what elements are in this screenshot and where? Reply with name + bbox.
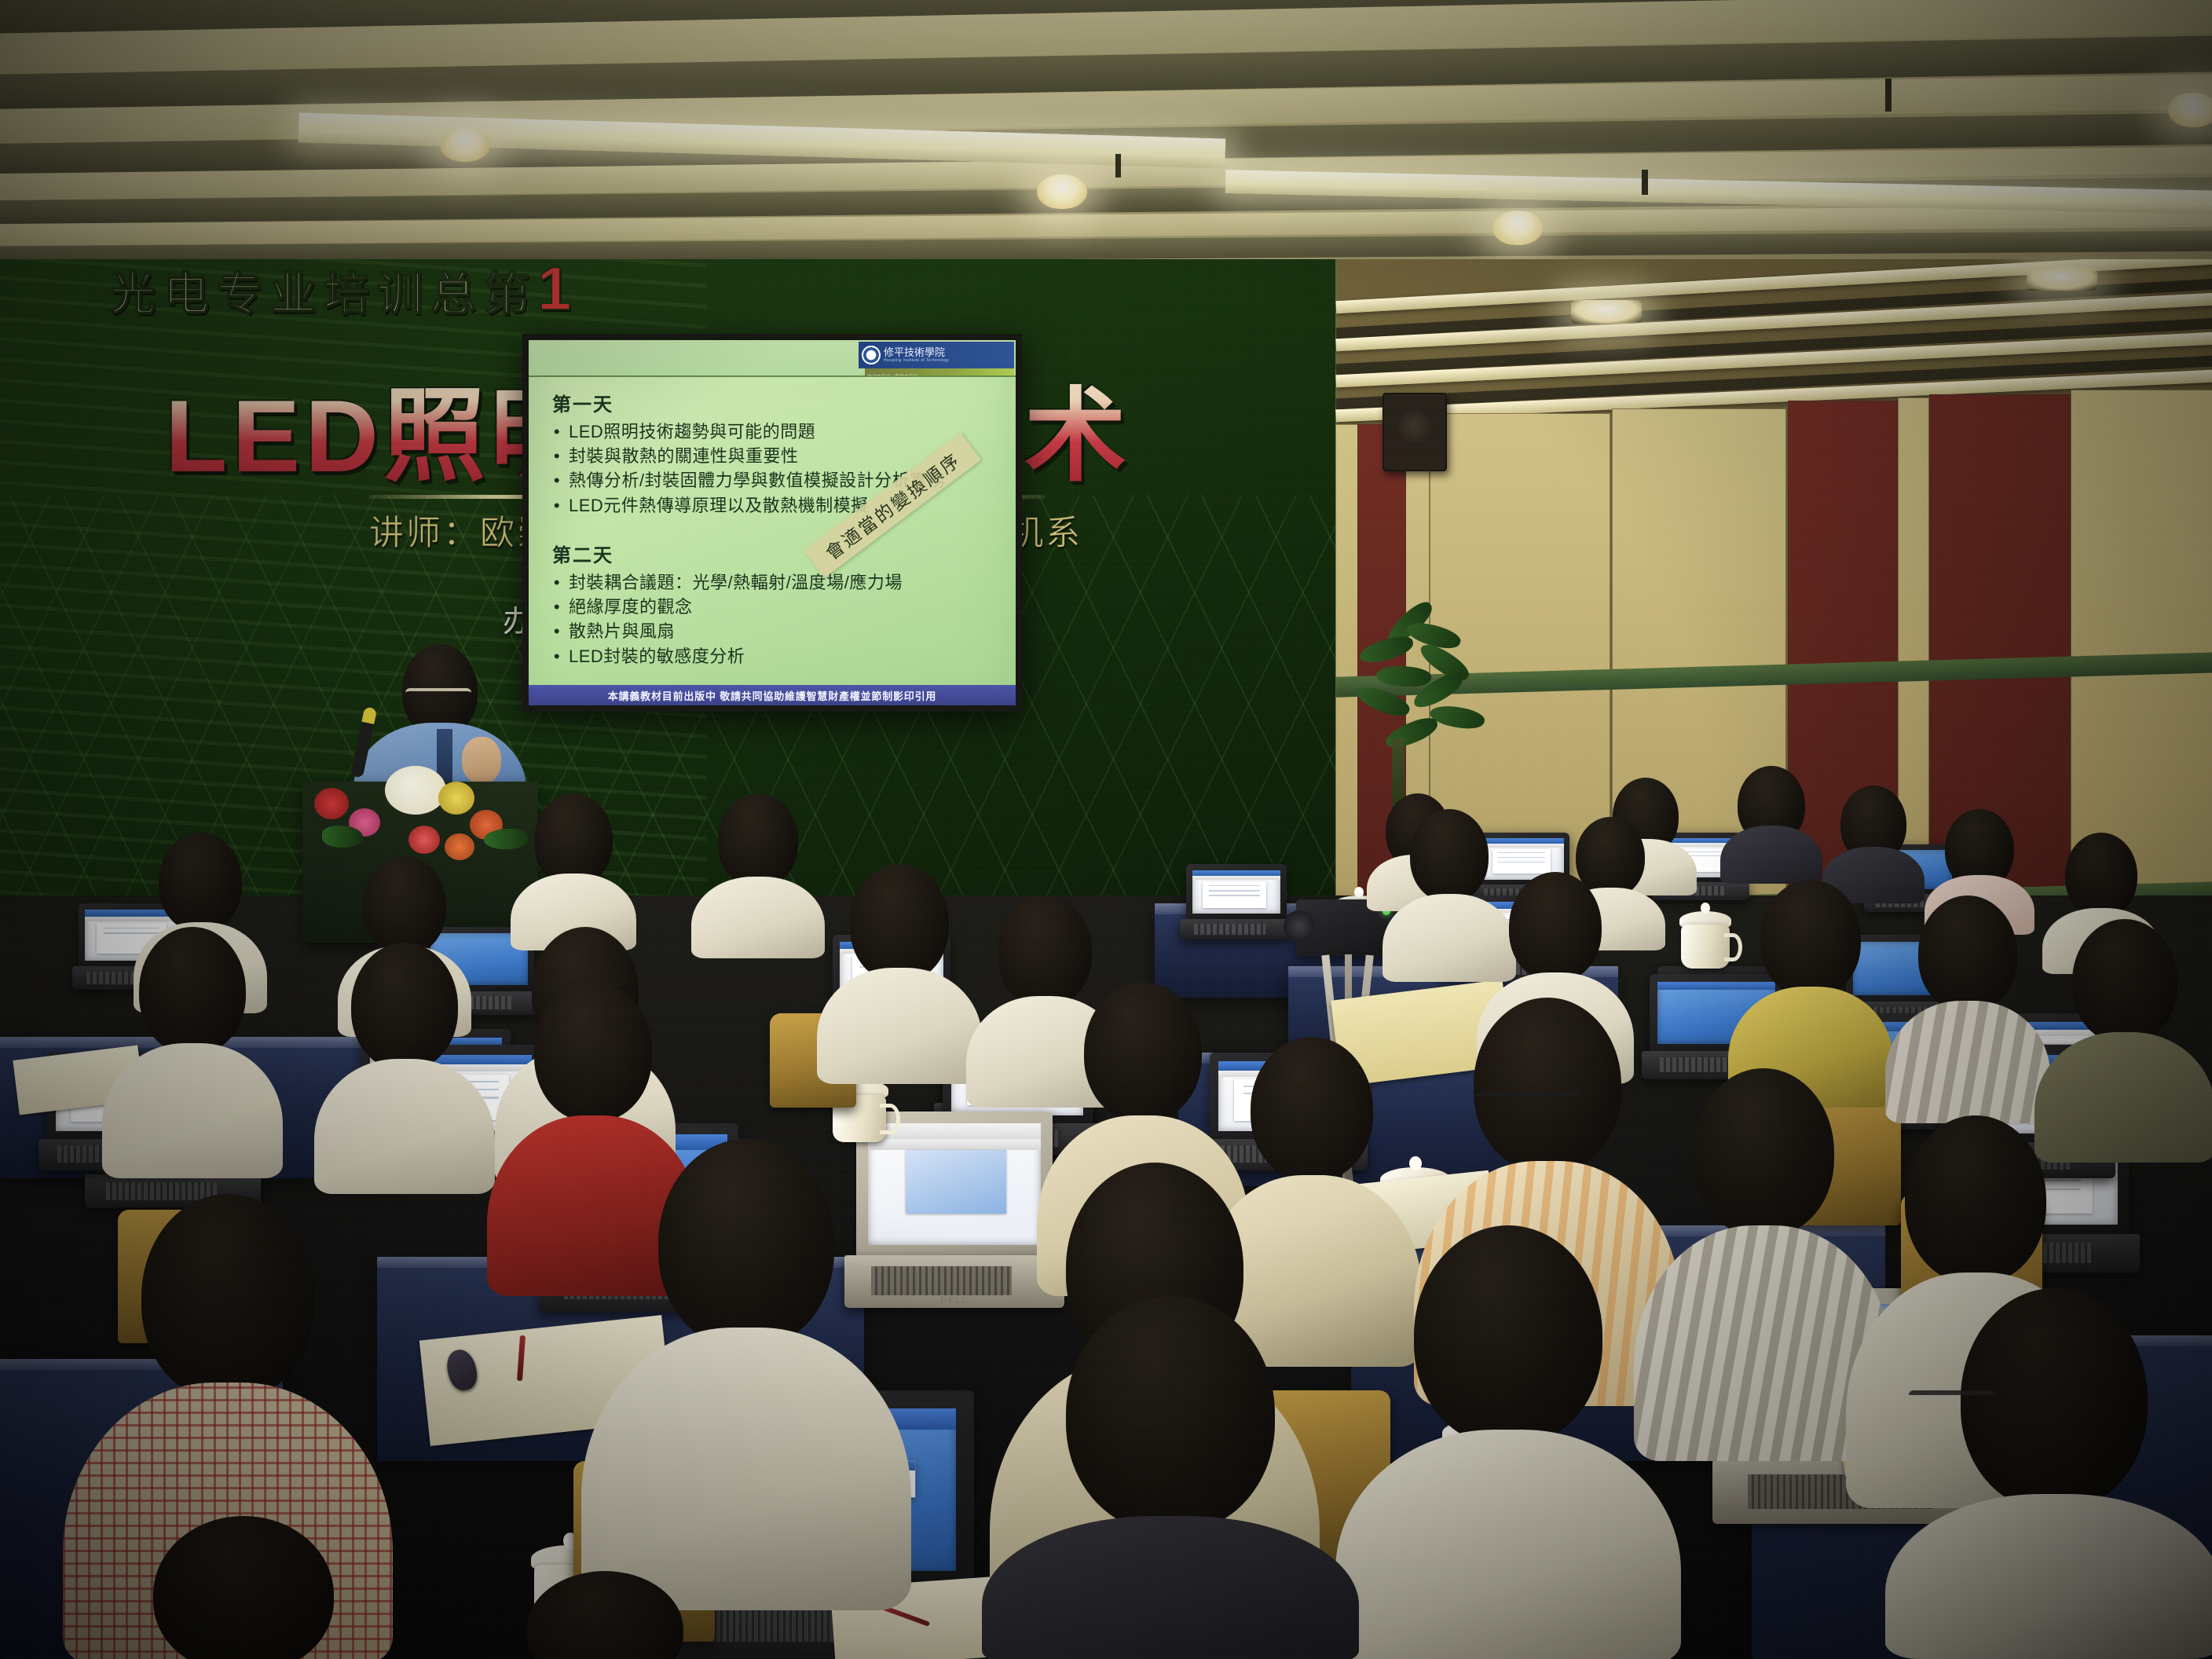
bullet-dot-icon: • [552,570,562,595]
bullet-text: LED封裝的敏感度分析 [569,644,745,668]
slide-footer-notice: 本講義教材目前出版中 敬請共同協助維護智慧財產權並節制影印引用 [529,685,1016,705]
bullet-dot-icon: • [552,444,562,468]
wall-lamp [1571,300,1642,324]
bullet-text: 散熱片與風扇 [569,619,675,643]
ceiling-fitting [1115,154,1121,178]
ceiling-spotlight [440,127,490,162]
logo-subtitle: Hsiuping Institute of Technology [884,358,949,363]
wall-speaker [1382,393,1447,471]
slide-header-rule [529,375,1016,377]
slide-bullet: • 散熱片與風扇 [552,619,1005,643]
attendee [94,1516,393,1659]
slide-logo-bar: 機械工程系 / 電機工程系 [865,368,1014,375]
logo-name: 修平技術學院 [884,347,949,358]
ceiling-fitting [1885,79,1892,112]
attendee-glasses-icon [1477,1092,1579,1109]
attendee-glasses-icon [1909,1390,1995,1408]
attendee [487,1571,723,1659]
slide-day2-title: 第二天 [552,540,1005,567]
attendee [1720,766,1822,884]
slide-content: 第一天 • LED照明技術趨勢與可能的問題 • 封裝與散熱的關連性與重要性 • … [552,389,1005,668]
logo-mark-icon [862,346,881,364]
slide-bullet: • 封裝耦合議題：光學/熱輻射/溫度場/應力場 [552,570,1005,595]
banner-session-line: 光电专业培训总第1 [110,259,579,324]
attendee [982,1296,1359,1659]
presenter-glasses-icon [405,688,471,702]
teacup [1681,907,1730,969]
slide-day1-title: 第一天 [552,389,1005,416]
bullet-dot-icon: • [552,493,562,518]
bullet-text: 封裝與散熱的關連性與重要性 [569,444,799,468]
attendee-laptop [1186,864,1287,939]
attendee [1885,895,2050,1123]
bullet-text: LED元件熱傳導原理以及散熱機制模擬 [569,493,869,518]
footer-notice-text: 本講義教材目前出版中 敬請共同協助維護智慧財產權並節制影印引用 [608,688,936,703]
attendee [1335,1225,1681,1659]
bullet-dot-icon: • [552,468,562,493]
ceiling-spotlight [1037,174,1087,209]
bullet-dot-icon: • [552,644,562,668]
slide-institution-logo: 修平技術學院 Hsiuping Institute of Technology [859,342,1014,368]
bullet-dot-icon: • [552,619,562,643]
bullet-dot-icon: • [552,595,562,619]
projection-screen: 修平技術學院 Hsiuping Institute of Technology … [522,334,1022,712]
slide-bullet: • 絕緣厚度的觀念 [552,595,1005,619]
attendee [102,927,283,1178]
slide-bullet: • LED封裝的敏感度分析 [552,644,1005,668]
attendee [314,943,495,1194]
attendee [1885,1288,2212,1659]
ceiling-fitting [1642,170,1648,195]
bullet-dot-icon: • [552,419,562,444]
bullet-text: LED照明技術趨勢與可能的問題 [569,419,815,444]
slide-bullet: • LED照明技術趨勢與可能的問題 [552,419,1005,444]
flower-arrangement [291,750,542,868]
laptop-brand-label: DELL [940,1295,969,1305]
slide-bullet: • LED元件熱傳導原理以及散熱機制模擬 [552,493,1005,518]
ceiling-spotlight [1492,211,1543,245]
attendee [817,864,982,1084]
attendee [581,1139,911,1610]
bullet-text: 封裝耦合議題：光學/熱輻射/溫度場/應力場 [569,570,903,595]
camera-lens-icon [1284,910,1315,942]
wall-lamp [2027,267,2097,291]
ceiling-spotlight [2168,93,2212,127]
projected-slide: 修平技術學院 Hsiuping Institute of Technology … [529,340,1016,705]
attendee [691,793,825,958]
photo-scene: 光电专业培训总第1 LED照明与散热技术 讲师：欧崇仁教授 台湾修平技术学院电机… [0,0,2212,1659]
bullet-text: 絕緣厚度的觀念 [569,595,693,619]
